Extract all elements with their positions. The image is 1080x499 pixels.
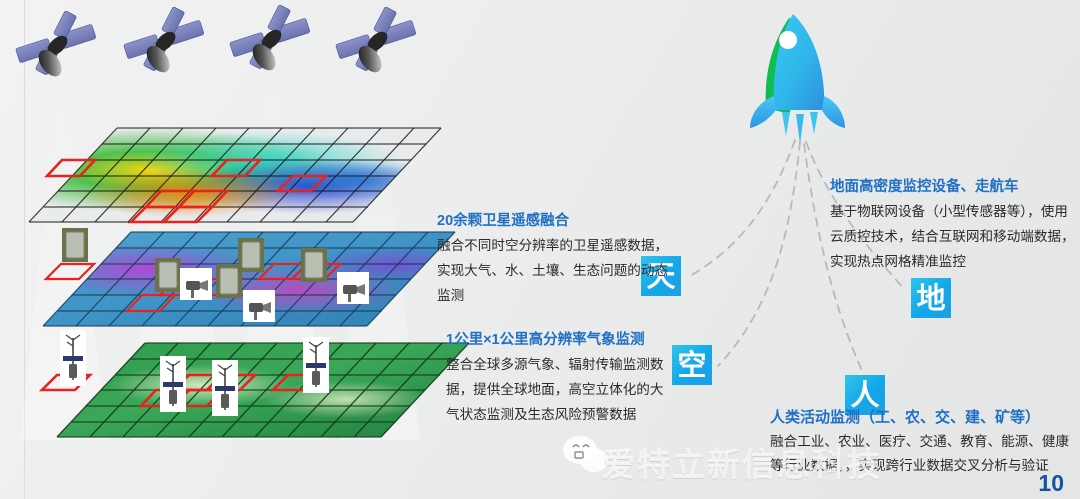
satellite-body: 融合不同时空分辨率的卫星遥感数据，实现大气、水、土壤、生态问题的动态监测: [437, 233, 677, 308]
rocket-icon: [744, 4, 862, 150]
slide-canvas: 天 空 地 人 20余颗卫星遥感融合 融合不同时空分辨率的卫星遥感数据，实现大气…: [0, 0, 1080, 499]
satellite-icon-2: [117, 0, 212, 84]
satellite-icon-1: [9, 4, 104, 88]
text-block-satellite: 20余颗卫星遥感融合 融合不同时空分辨率的卫星遥感数据，实现大气、水、土壤、生态…: [437, 211, 677, 308]
badge-di: 地: [911, 278, 951, 318]
ground-heading: 地面高密度监控设备、走航车: [830, 177, 1080, 197]
page-number: 10: [1038, 470, 1064, 497]
satellite-icon-3: [223, 0, 318, 82]
human-body: 融合工业、农业、医疗、交通、教育、能源、健康等行业数据，，实现跨行业数据交叉分析…: [770, 430, 1080, 478]
text-block-meteorology: 1公里×1公里高分辨率气象监测 整合全球多源气象、辐射传输监测数据，提供全球地面…: [446, 330, 672, 427]
text-block-human: 人类活动监测（工、农、交、建、矿等） 融合工业、农业、医疗、交通、教育、能源、健…: [770, 408, 1080, 478]
ground-body: 基于物联网设备（小型传感器等），使用云质控技术，结合互联网和移动端数据，实现热点…: [830, 199, 1080, 274]
satellite-heading: 20余颗卫星遥感融合: [437, 211, 677, 231]
human-heading: 人类活动监测（工、农、交、建、矿等）: [770, 408, 1080, 428]
satellite-icon-4: [329, 0, 424, 84]
meteorology-body: 整合全球多源气象、辐射传输监测数据，提供全球地面，高空立体化的大气状态监测及生态…: [446, 352, 672, 427]
badge-kong: 空: [672, 345, 712, 385]
text-block-ground: 地面高密度监控设备、走航车 基于物联网设备（小型传感器等），使用云质控技术，结合…: [830, 177, 1080, 274]
meteorology-heading: 1公里×1公里高分辨率气象监测: [446, 330, 672, 350]
layered-monitoring-illustration: [0, 0, 470, 499]
watermark-face-icon: [560, 430, 612, 476]
